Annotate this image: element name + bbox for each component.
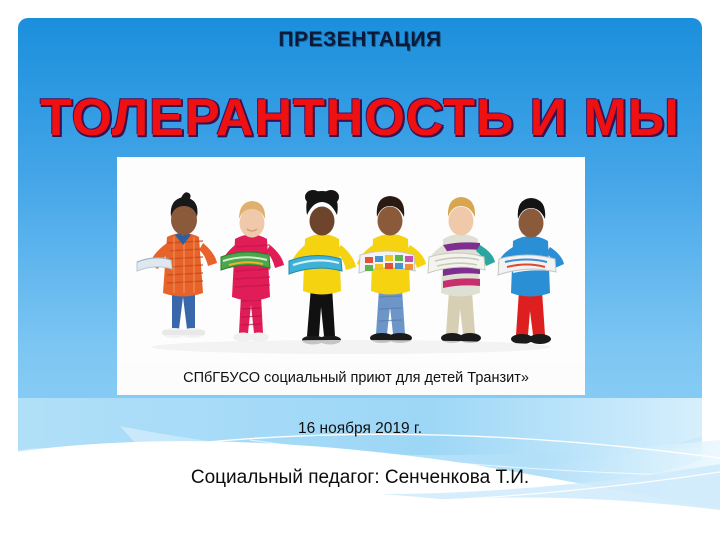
children-photograph [117,157,585,365]
slide-title: ТОЛЕРАНТНОСТЬ И МЫ [0,92,720,144]
slide-date: 16 ноября 2019 г. [0,420,720,438]
children-illustration [117,157,585,365]
presentation-slide: ПРЕЗЕНТАЦИЯ ТОЛЕРАНТНОСТЬ И МЫ [0,0,720,540]
slide-kicker: ПРЕЗЕНТАЦИЯ [0,28,720,52]
slide-author: Социальный педагог: Сенченкова Т.И. [0,467,720,489]
photo-caption: СПбГБУСО социальный приют для детей Тран… [117,363,585,393]
photo-card: СПбГБУСО социальный приют для детей Тран… [117,157,585,395]
